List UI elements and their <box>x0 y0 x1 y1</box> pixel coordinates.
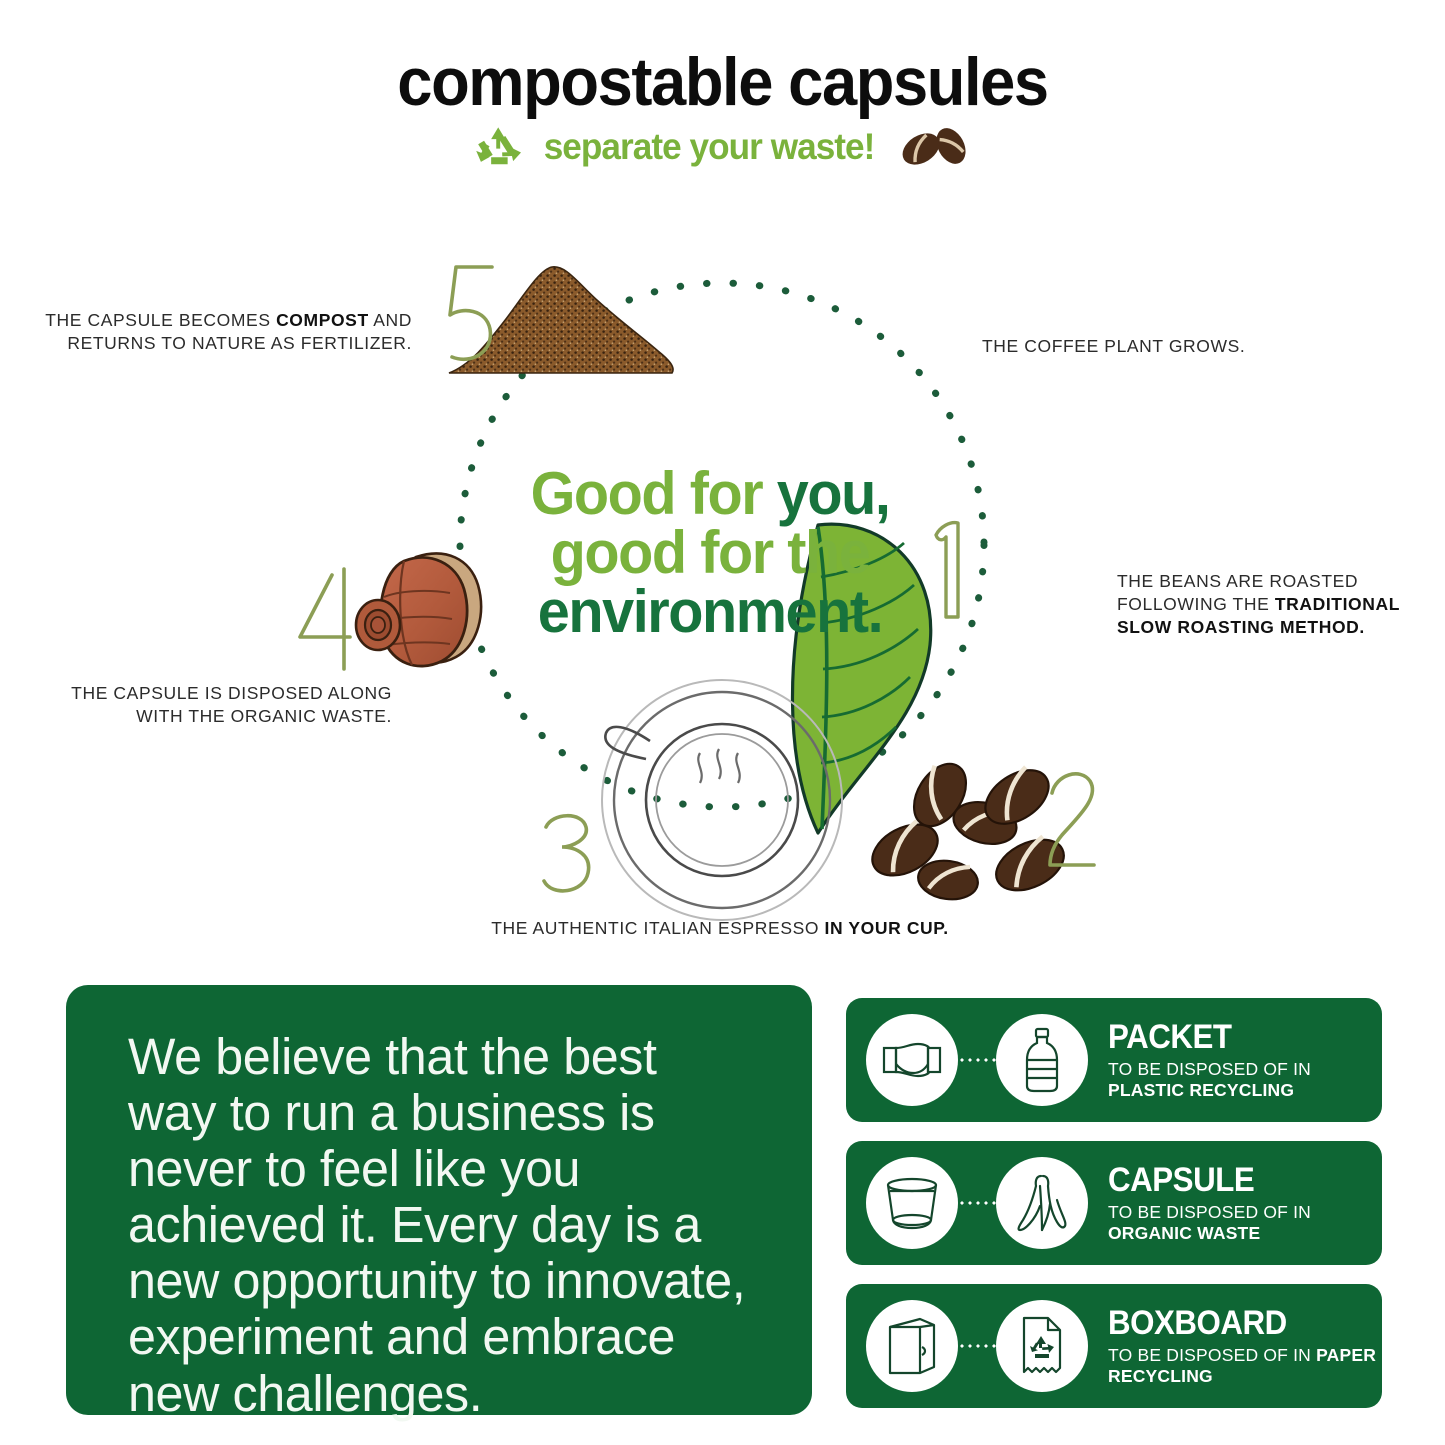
packet-text: PACKET TO BE DISPOSED OF INPLASTIC RECYC… <box>1108 1020 1311 1101</box>
step-3-label: THE AUTHENTIC ITALIAN ESPRESSO IN YOUR C… <box>400 917 1040 940</box>
step-4-label: THE CAPSULE IS DISPOSED ALONGWITH THE OR… <box>44 682 392 728</box>
disposal-card-capsule[interactable]: CAPSULE TO BE DISPOSED OF INORGANIC WAST… <box>846 1141 1382 1265</box>
packet-connector-dots <box>958 1058 996 1062</box>
header: compostable capsules separate your waste… <box>0 48 1445 172</box>
coffee-beans-icon <box>894 122 972 172</box>
disposal-card-packet[interactable]: PACKET TO BE DISPOSED OF INPLASTIC RECYC… <box>846 998 1382 1122</box>
capsule-icon-pair <box>866 1157 1088 1249</box>
header-subtitle-row: separate your waste! <box>0 122 1445 172</box>
step-3-number <box>544 816 589 891</box>
tagline-line-1: Good for you, <box>508 465 911 524</box>
capsule-text: CAPSULE TO BE DISPOSED OF INORGANIC WAST… <box>1108 1163 1311 1244</box>
packet-title: PACKET <box>1108 1020 1295 1054</box>
disposal-cards: PACKET TO BE DISPOSED OF INPLASTIC RECYC… <box>846 998 1382 1427</box>
coffee-packet-icon <box>866 1014 958 1106</box>
tagline-line-1-dark: you, <box>777 460 890 527</box>
center-tagline: Good for you, good for the environment. <box>500 465 920 641</box>
paper-recycling-icon <box>996 1300 1088 1392</box>
plastic-bottle-icon <box>996 1014 1088 1106</box>
tagline-line-2: good for the <box>508 524 911 583</box>
tagline-line-1-light: Good for <box>531 460 777 527</box>
step-2-beans-icon <box>864 755 1072 903</box>
boxboard-title: BOXBOARD <box>1108 1306 1355 1340</box>
step-5-label: THE CAPSULE BECOMES COMPOST ANDRETURNS T… <box>22 309 412 355</box>
capsule-connector-dots <box>958 1201 996 1205</box>
tagline-line-3: environment. <box>508 583 911 642</box>
infographic-page: compostable capsules separate your waste… <box>0 0 1445 1445</box>
lifecycle-diagram: Good for you, good for the environment. … <box>0 225 1445 965</box>
boxboard-box-icon <box>866 1300 958 1392</box>
boxboard-text: BOXBOARD TO BE DISPOSED OF IN PAPERRECYC… <box>1108 1306 1376 1387</box>
boxboard-connector-dots <box>958 1344 996 1348</box>
coffee-capsule-icon <box>866 1157 958 1249</box>
packet-subtitle: TO BE DISPOSED OF INPLASTIC RECYCLING <box>1108 1059 1311 1101</box>
page-title: compostable capsules <box>51 48 1395 116</box>
packet-icon-pair <box>866 1014 1088 1106</box>
disposal-card-boxboard[interactable]: BOXBOARD TO BE DISPOSED OF IN PAPERRECYC… <box>846 1284 1382 1408</box>
step-1-label: THE COFFEE PLANT GROWS. <box>982 335 1312 358</box>
capsule-title: CAPSULE <box>1108 1163 1295 1197</box>
banana-peel-icon <box>996 1157 1088 1249</box>
recycle-icon <box>473 125 525 169</box>
step-1-number <box>936 523 958 617</box>
capsule-subtitle: TO BE DISPOSED OF INORGANIC WASTE <box>1108 1202 1311 1244</box>
step-4-number <box>300 569 350 669</box>
boxboard-icon-pair <box>866 1300 1088 1392</box>
step-4-capsule-icon <box>356 553 481 666</box>
brand-quote-panel: We believe that the best way to run a bu… <box>66 985 812 1415</box>
boxboard-subtitle: TO BE DISPOSED OF IN PAPERRECYCLING <box>1108 1345 1376 1387</box>
header-subtitle: separate your waste! <box>544 126 875 168</box>
step-5-compost-icon <box>449 267 673 373</box>
brand-quote-text: We believe that the best way to run a bu… <box>128 1029 752 1422</box>
step-2-label: THE BEANS ARE ROASTEDFOLLOWING THE TRADI… <box>1117 570 1437 639</box>
